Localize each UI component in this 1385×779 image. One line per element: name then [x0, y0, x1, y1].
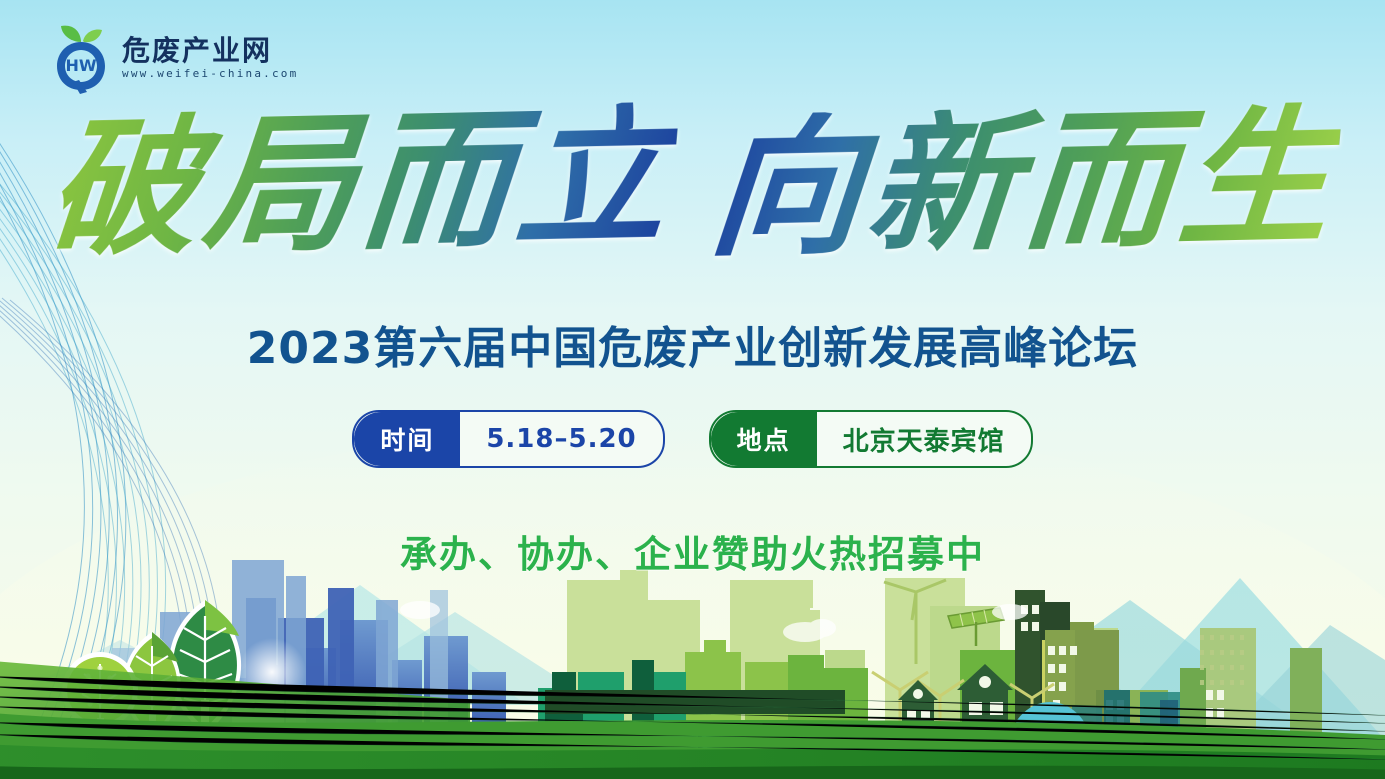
- place-pill-label: 地点: [711, 412, 817, 466]
- time-pill-label: 时间: [354, 412, 460, 466]
- recruitment-banner: 承办、协办、企业赞助火热招募中: [0, 524, 1385, 578]
- hw-leaf-mark-icon: HW: [50, 22, 112, 94]
- logo-text-block: 危废产业网 www.weifei-china.com: [122, 37, 298, 79]
- place-pill-value: 北京天泰宾馆: [817, 412, 1031, 466]
- headline-part-1: 破局而立: [43, 101, 681, 264]
- logo-url: www.weifei-china.com: [122, 68, 298, 79]
- page-title: 破局而立向新而生: [0, 108, 1385, 258]
- time-pill-value: 5.18–5.20: [460, 412, 662, 466]
- logo-name: 危废产业网: [122, 37, 298, 65]
- place-pill: 地点 北京天泰宾馆: [709, 410, 1033, 468]
- event-subtitle: 2023第六届中国危废产业创新发展高峰论坛: [0, 325, 1385, 373]
- svg-text:HW: HW: [65, 56, 96, 75]
- event-poster: HW 危废产业网 www.weifei-china.com 破局而立向新而生 2…: [0, 0, 1385, 779]
- time-pill: 时间 5.18–5.20: [352, 410, 664, 468]
- headline-part-2: 向新而生: [705, 101, 1343, 264]
- site-logo[interactable]: HW 危废产业网 www.weifei-china.com: [50, 22, 298, 94]
- event-info-pills: 时间 5.18–5.20 地点 北京天泰宾馆: [0, 410, 1385, 468]
